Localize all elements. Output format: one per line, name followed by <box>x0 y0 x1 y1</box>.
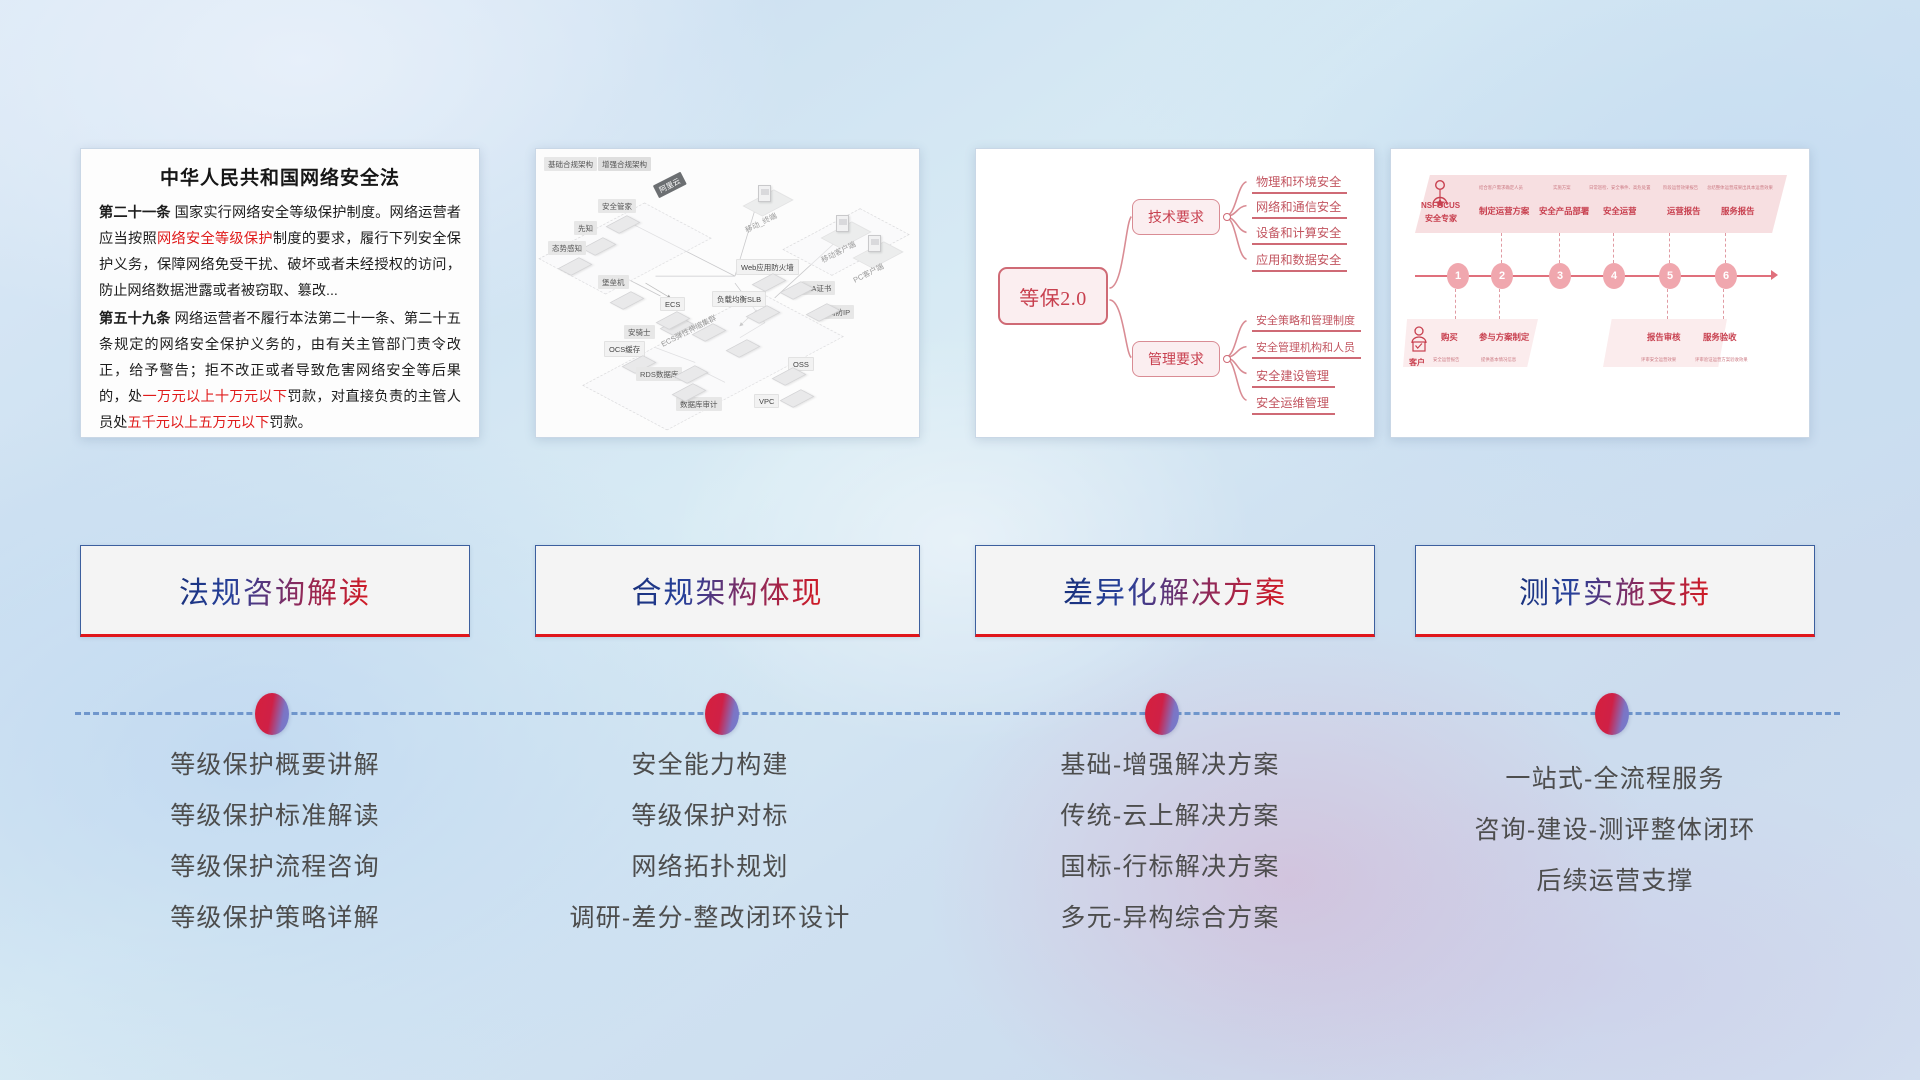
customer-label: 客户 <box>1409 357 1425 368</box>
arch-label-3: 堡垒机 <box>598 275 629 289</box>
top-step-2-title: 安全运营 <box>1603 205 1637 217</box>
card-mindmap[interactable]: 等保2.0 技术要求 物理和环境安全 网络和通信安全 设备和计算安全 应用和数据… <box>975 148 1375 438</box>
list-item: 网络拓扑规划 <box>500 842 920 893</box>
mindmap-knob-technical[interactable] <box>1223 213 1231 221</box>
timeline-node-3[interactable]: 3 <box>1549 263 1571 289</box>
arch-label-15: VPC <box>754 394 779 408</box>
dash-connector-1b <box>1455 289 1456 319</box>
bottom-step-2-sub: 评审安全运营效果 <box>1641 357 1676 363</box>
list-item: 调研-差分-整改闭环设计 <box>500 893 920 944</box>
mindmap-branch-management[interactable]: 管理要求 <box>1132 341 1220 377</box>
list-item: 多元-异构综合方案 <box>960 893 1380 944</box>
timeline-strip <box>0 693 1920 733</box>
legal-text: 罚款。 <box>269 415 312 431</box>
list-item: 一站式-全流程服务 <box>1405 754 1825 805</box>
list-item: 等级保护策略详解 <box>80 893 470 944</box>
title-box-regulation-consulting[interactable]: 法规咨询解读 <box>80 545 470 637</box>
dash-connector-2b <box>1499 289 1500 319</box>
top-step-2-sub: 日常巡检、安全事件、高危处置 <box>1589 185 1650 191</box>
legal-highlight: 五千元以上五万元以下 <box>127 415 269 431</box>
title-box-evaluation-support[interactable]: 测评实施支持 <box>1415 545 1815 637</box>
expert-label-line1: NSFOCUS <box>1421 201 1460 210</box>
list-item: 国标-行标解决方案 <box>960 842 1380 893</box>
list-item: 后续运营支撑 <box>1405 856 1825 907</box>
legal-article-number: 第五十九条 <box>99 311 171 327</box>
timeline-dot-2[interactable] <box>705 693 739 735</box>
list-item: 基础-增强解决方案 <box>960 740 1380 791</box>
timeline-node-6[interactable]: 6 <box>1715 263 1737 289</box>
mindmap-leaf-t3: 应用和数据安全 <box>1252 249 1347 272</box>
bottom-step-1-sub: 提供基本情况信息 <box>1481 357 1516 363</box>
mindmap-leaf-t0: 物理和环境安全 <box>1252 171 1347 194</box>
arch-label-5: ECS <box>660 297 685 311</box>
mindmap-leaf-m2: 安全建设管理 <box>1252 365 1335 388</box>
bottom-step-0-title: 购买 <box>1441 331 1458 343</box>
arch-label-4: 安骑士 <box>624 325 655 339</box>
arch-label-0: 安全管家 <box>598 199 636 213</box>
top-step-3-title: 运营报告 <box>1667 205 1701 217</box>
list-item: 咨询-建设-测评整体闭环 <box>1405 805 1825 856</box>
top-step-0-title: 制定运营方案 <box>1479 205 1529 217</box>
card-nsfocus-timeline[interactable]: NSFOCUS 安全专家 结合客户需求确定人员 制定运营方案 实施方案 安全产品… <box>1390 148 1810 438</box>
title-label: 合规架构体现 <box>632 568 824 612</box>
mindmap-leaf-t1: 网络和通信安全 <box>1252 196 1347 219</box>
list-item: 等级保护标准解读 <box>80 791 470 842</box>
arch-label-8: Web应用防火墙 <box>736 259 799 275</box>
bottom-step-3-sub: 评审验证运营方案验收效果 <box>1695 357 1748 363</box>
arch-server-mobile-client <box>836 215 849 232</box>
dash-connector-3 <box>1559 233 1560 263</box>
timeline-dot-4[interactable] <box>1595 693 1629 735</box>
list-column-regulation: 等级保护概要讲解 等级保护标准解读 等级保护流程咨询 等级保护策略详解 <box>80 740 470 944</box>
mindmap-leaf-m1: 安全管理机构和人员 <box>1252 338 1361 359</box>
mindmap-leaf-m3: 安全运维管理 <box>1252 392 1335 415</box>
legal-body: 中华人民共和国网络安全法 第二十一条 国家实行网络安全等级保护制度。网络运营者应… <box>81 149 479 438</box>
mindmap-leaf-m0: 安全策略和管理制度 <box>1252 311 1361 332</box>
timeline-dot-1[interactable] <box>255 693 289 735</box>
list-item: 传统-云上解决方案 <box>960 791 1380 842</box>
timeline-node-5[interactable]: 5 <box>1659 263 1681 289</box>
legal-title: 中华人民共和国网络安全法 <box>99 163 461 190</box>
arch-label-7: 负载均衡SLB <box>712 291 766 307</box>
expert-label-line2: 安全专家 <box>1425 213 1457 224</box>
timeline-node-2[interactable]: 2 <box>1491 263 1513 289</box>
bottom-step-1-title: 参与方案制定 <box>1479 331 1529 343</box>
list-column-evaluation: 一站式-全流程服务 咨询-建设-测评整体闭环 后续运营支撑 <box>1405 754 1825 907</box>
list-item: 等级保护流程咨询 <box>80 842 470 893</box>
legal-highlight: 一万元以上十万元以下 <box>142 389 287 405</box>
top-step-1-title: 安全产品部署 <box>1539 205 1589 217</box>
dash-connector-6b <box>1723 289 1724 319</box>
top-step-0-sub: 结合客户需求确定人员 <box>1479 185 1523 191</box>
top-step-3-sub: 阶段运营效果报告 <box>1663 185 1698 191</box>
customer-person-icon <box>1409 325 1429 357</box>
architecture-canvas: 基础合规架构 增强合规架构 <box>536 149 919 437</box>
top-step-4-title: 服务报告 <box>1721 205 1755 217</box>
title-box-differentiated-solution[interactable]: 差异化解决方案 <box>975 545 1375 637</box>
title-label: 差异化解决方案 <box>1063 568 1287 612</box>
dash-connector-5 <box>1669 233 1670 263</box>
legal-article-number: 第二十一条 <box>99 205 171 221</box>
bottom-step-3-title: 服务验收 <box>1703 331 1737 343</box>
arch-server-mobile <box>758 185 771 202</box>
top-step-1-sub: 实施方案 <box>1553 185 1571 191</box>
timeline-node-4[interactable]: 4 <box>1603 263 1625 289</box>
arch-server-pc-client <box>868 235 881 252</box>
legal-highlight: 网络安全等级保护 <box>157 231 273 247</box>
list-item: 等级保护概要讲解 <box>80 740 470 791</box>
dash-connector-2 <box>1501 233 1502 263</box>
timeline-node-1[interactable]: 1 <box>1447 263 1469 289</box>
nsfocus-canvas: NSFOCUS 安全专家 结合客户需求确定人员 制定运营方案 实施方案 安全产品… <box>1391 149 1809 437</box>
timeline-dashed-line <box>75 712 1840 715</box>
list-item: 等级保护对标 <box>500 791 920 842</box>
mindmap-knob-management[interactable] <box>1223 355 1231 363</box>
legal-paragraph: 第二十一条 国家实行网络安全等级保护制度。网络运营者应当按照网络安全等级保护制度… <box>99 200 461 304</box>
list-item: 安全能力构建 <box>500 740 920 791</box>
mindmap-leaf-t2: 设备和计算安全 <box>1252 222 1347 245</box>
titles-row: 法规咨询解读 合规架构体现 差异化解决方案 测评实施支持 <box>0 545 1920 645</box>
timeline-dot-3[interactable] <box>1145 693 1179 735</box>
title-label: 法规咨询解读 <box>179 568 371 612</box>
mindmap-root[interactable]: 等保2.0 <box>998 267 1108 325</box>
arch-label-11: OCS缓存 <box>604 341 645 357</box>
top-step-4-sub: 总结整体运营成果出具本运营效果 <box>1707 185 1773 191</box>
arch-label-12: RDS数据库 <box>636 367 682 381</box>
arch-label-1: 先知 <box>574 221 597 235</box>
mindmap-branch-technical[interactable]: 技术要求 <box>1132 199 1220 235</box>
lists-row: 等级保护概要讲解 等级保护标准解读 等级保护流程咨询 等级保护策略详解 安全能力… <box>0 740 1920 1020</box>
title-label: 测评实施支持 <box>1519 568 1711 612</box>
card-architecture-diagram[interactable]: 基础合规架构 增强合规架构 <box>535 148 920 438</box>
nsfocus-expert-band <box>1415 175 1787 233</box>
legal-paragraph: 第五十九条 网络运营者不履行本法第二十一条、第二十五条规定的网络安全保护义务的，… <box>99 306 461 436</box>
bottom-step-0-sub: 安全运营报告 <box>1433 357 1459 363</box>
dash-connector-6 <box>1725 233 1726 263</box>
dash-connector-5b <box>1667 289 1668 319</box>
cards-row: 中华人民共和国网络安全法 第二十一条 国家实行网络安全等级保护制度。网络运营者应… <box>0 148 1920 448</box>
dash-connector-4 <box>1613 233 1614 263</box>
mindmap-canvas: 等保2.0 技术要求 物理和环境安全 网络和通信安全 设备和计算安全 应用和数据… <box>976 149 1374 437</box>
arch-label-2: 态势感知 <box>548 241 586 255</box>
title-box-compliance-architecture[interactable]: 合规架构体现 <box>535 545 920 637</box>
list-column-architecture: 安全能力构建 等级保护对标 网络拓扑规划 调研-差分-整改闭环设计 <box>500 740 920 944</box>
timeline-arrow-icon <box>1771 270 1778 280</box>
list-column-solution: 基础-增强解决方案 传统-云上解决方案 国标-行标解决方案 多元-异构综合方案 <box>960 740 1380 944</box>
bottom-step-2-title: 报告审核 <box>1647 331 1681 343</box>
card-legal-text[interactable]: 中华人民共和国网络安全法 第二十一条 国家实行网络安全等级保护制度。网络运营者应… <box>80 148 480 438</box>
